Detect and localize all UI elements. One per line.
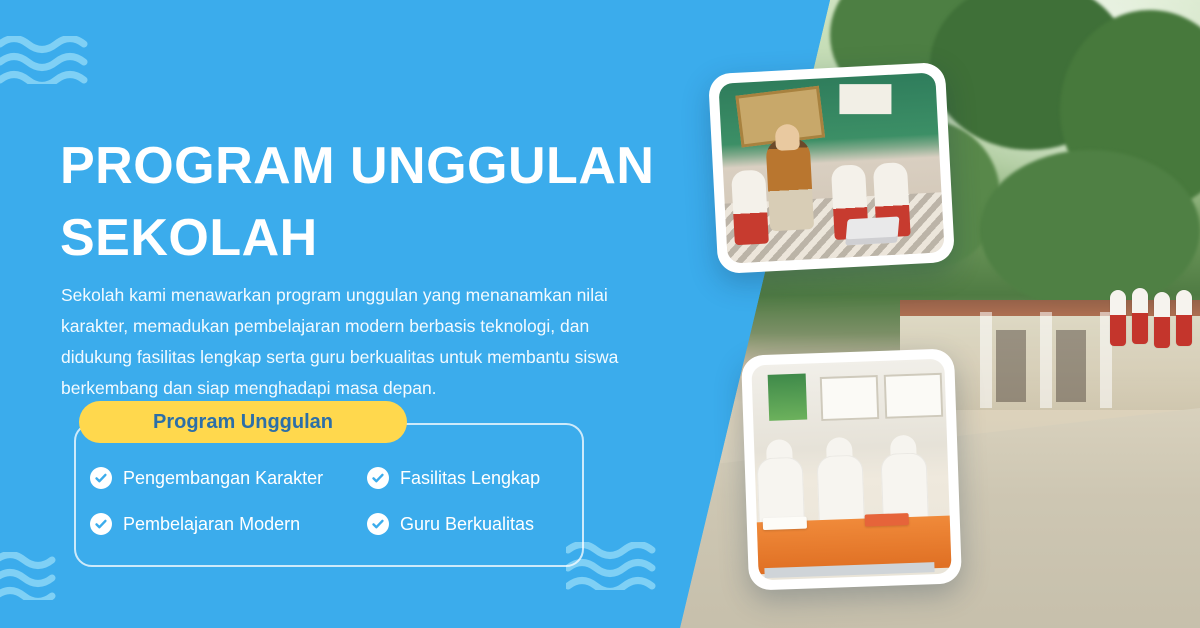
teacher-figure bbox=[765, 137, 814, 231]
feature-label: Pembelajaran Modern bbox=[123, 514, 300, 535]
photo-card-top bbox=[708, 62, 955, 274]
building-pillar bbox=[980, 312, 992, 408]
building-door bbox=[996, 330, 1026, 402]
description-text: Sekolah kami menawarkan program unggulan… bbox=[61, 280, 651, 405]
check-circle-icon bbox=[90, 513, 112, 535]
tree-canopy-icon bbox=[980, 150, 1200, 310]
headline-line-2: SEKOLAH bbox=[60, 203, 660, 275]
teacher-with-students-photo bbox=[718, 72, 944, 263]
promo-banner: PROGRAM UNGGULAN SEKOLAH Sekolah kami me… bbox=[0, 0, 1200, 628]
wave-decoration-bottom-center bbox=[566, 542, 686, 590]
features-pill-label: Program Unggulan bbox=[153, 411, 333, 434]
check-circle-icon bbox=[367, 467, 389, 489]
wave-decoration-top-left bbox=[0, 36, 108, 84]
page-title: PROGRAM UNGGULAN SEKOLAH bbox=[60, 131, 660, 275]
students-writing-photo bbox=[751, 359, 951, 581]
features-list: Pengembangan Karakter Fasilitas Lengkap … bbox=[90, 455, 590, 547]
list-item: Fasilitas Lengkap bbox=[367, 455, 590, 501]
feature-label: Pengembangan Karakter bbox=[123, 468, 323, 489]
laptop-icon bbox=[845, 217, 899, 246]
features-pill-badge: Program Unggulan bbox=[79, 401, 407, 443]
classroom-poster bbox=[839, 84, 891, 114]
student-figure bbox=[1110, 290, 1126, 346]
list-item: Pembelajaran Modern bbox=[90, 501, 367, 547]
building-door bbox=[1056, 330, 1086, 402]
student-figure bbox=[1176, 290, 1192, 346]
wall-board bbox=[820, 375, 880, 421]
building-pillar bbox=[1040, 312, 1052, 408]
list-item: Pengembangan Karakter bbox=[90, 455, 367, 501]
student-figure bbox=[731, 169, 769, 245]
student-figure bbox=[1154, 292, 1170, 348]
notebook bbox=[763, 517, 807, 531]
headline-line-1: PROGRAM UNGGULAN bbox=[60, 137, 654, 195]
check-circle-icon bbox=[90, 467, 112, 489]
check-circle-icon bbox=[367, 513, 389, 535]
wall-poster bbox=[768, 374, 808, 421]
student-figure bbox=[1132, 288, 1148, 344]
feature-label: Guru Berkualitas bbox=[400, 514, 534, 535]
feature-label: Fasilitas Lengkap bbox=[400, 468, 540, 489]
photo-card-bottom bbox=[741, 348, 962, 590]
list-item: Guru Berkualitas bbox=[367, 501, 590, 547]
wall-board bbox=[884, 373, 944, 419]
notebook bbox=[865, 513, 909, 527]
wave-decoration-bottom-left bbox=[0, 552, 84, 600]
